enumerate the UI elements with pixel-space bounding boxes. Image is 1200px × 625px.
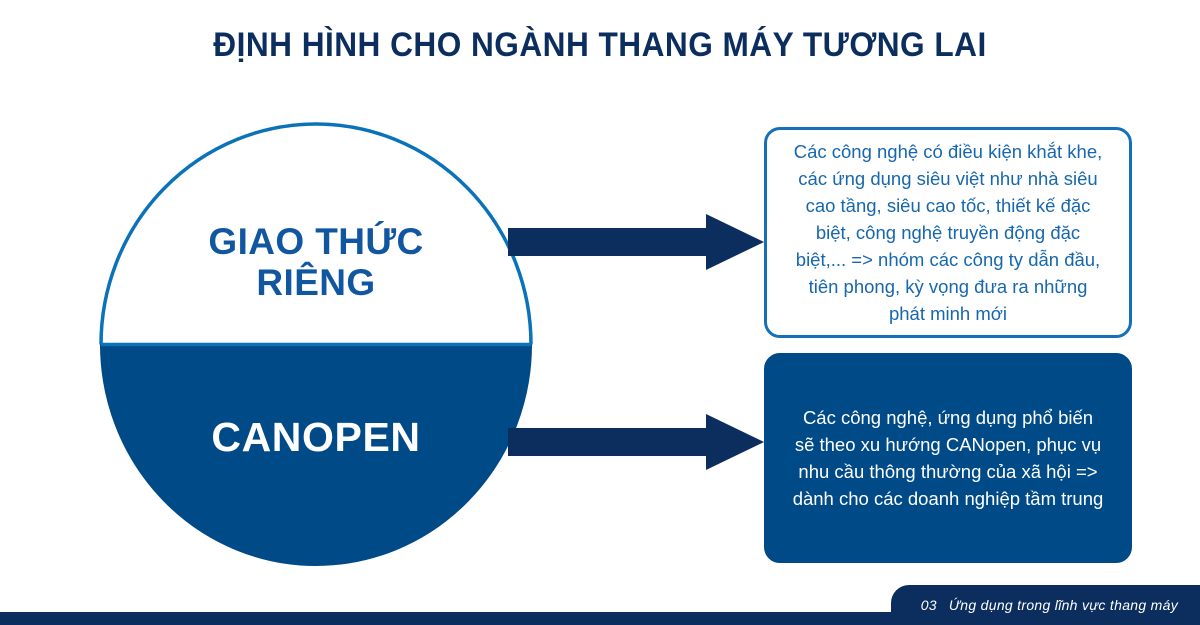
right-arrow-icon [508,412,764,472]
slide-root: ĐỊNH HÌNH CHO NGÀNH THANG MÁY TƯƠNG LAI [0,0,1200,625]
page-title: ĐỊNH HÌNH CHO NGÀNH THANG MÁY TƯƠNG LAI [42,26,1158,65]
circle-top-label-line2: RIÊNG [99,262,533,303]
footer-section-label: Ứng dụng trong lĩnh vực thang máy [949,597,1178,613]
circle-top-label: GIAO THỨC RIÊNG [99,221,533,304]
card-protocol-private-text: Các công nghệ có điều kiện khắt khe, các… [789,138,1107,327]
card-protocol-private: Các công nghệ có điều kiện khắt khe, các… [764,127,1132,338]
arrow-to-card-two [508,412,764,472]
card-canopen-text: Các công nghệ, ứng dụng phổ biến sẽ theo… [791,404,1105,512]
circle-bottom-label: CANOPEN [99,415,533,461]
arrow-to-card-one [508,212,764,272]
footer-section-number: 03 [921,597,937,613]
split-circle: GIAO THỨC RIÊNG CANOPEN [99,122,533,567]
right-arrow-icon [508,212,764,272]
card-canopen: Các công nghệ, ứng dụng phổ biến sẽ theo… [764,353,1132,563]
circle-top-label-line1: GIAO THỨC [99,221,533,262]
split-circle-graphic [99,122,533,567]
footer-section-tab: 03 Ứng dụng trong lĩnh vực thang máy [891,585,1200,625]
